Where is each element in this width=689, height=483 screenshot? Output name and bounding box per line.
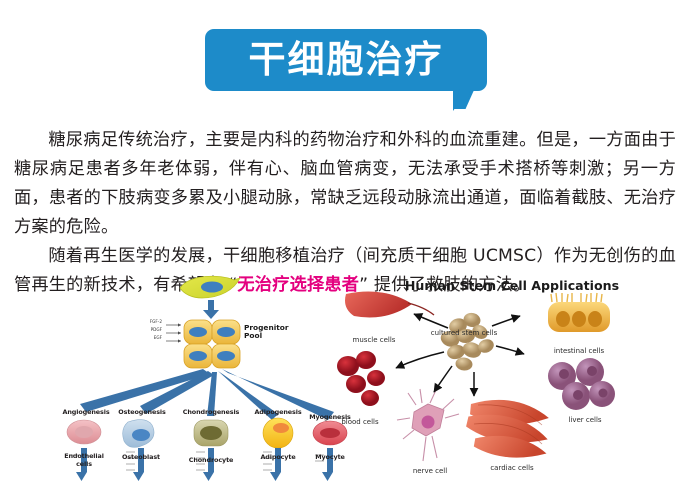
label-intestinal-cells: intestinal cells xyxy=(554,347,604,355)
figure-row: FGF-2 PDGF EGF Progenitor Pool Angiogene… xyxy=(0,272,689,483)
msc-differentiation-graphic xyxy=(62,272,352,483)
process-label-adipogenesis: Adipogenesis xyxy=(254,408,301,416)
banner-tail-icon xyxy=(455,89,475,109)
msc-differentiation-figure: FGF-2 PDGF EGF Progenitor Pool Angiogene… xyxy=(62,272,352,483)
lineage-cell-adipogenesis xyxy=(263,418,293,448)
figure-title: Human Stem Cell Applications xyxy=(352,278,672,293)
growth-factor-label-egf: EGF xyxy=(154,335,162,340)
growth-factor-label-pdgf: PDGF xyxy=(151,327,162,332)
paragraph-1: 糖尿病足传统治疗，主要是内科的药物治疗和外科的血流重建。但是，一方面由于糖尿病足… xyxy=(14,126,676,242)
cultured-stem-cells-cluster xyxy=(438,311,496,371)
lineage-cell-angiogenesis xyxy=(67,420,101,444)
intestinal-cells-illustration xyxy=(548,293,610,332)
cell-label-osteoblast: Osteoblast xyxy=(122,453,160,461)
cardiac-cells-illustration xyxy=(466,394,550,460)
arrow-to-pool xyxy=(203,300,219,319)
title-banner: 干细胞治疗 xyxy=(205,29,487,105)
cell-label-chondrocyte: Chondrocyte xyxy=(189,456,234,464)
progenitor-pool-cells xyxy=(184,320,240,368)
stem-cell-applications-graphic xyxy=(352,272,672,483)
label-cardiac-cells: cardiac cells xyxy=(490,464,533,472)
liver-cells-illustration xyxy=(548,358,615,410)
lineage-cell-chondrogenesis xyxy=(194,420,228,446)
label-muscle-cells: muscle cells xyxy=(353,336,396,344)
muscle-cells-illustration xyxy=(345,292,434,318)
label-nerve-cell: nerve cell xyxy=(413,467,447,475)
stem-cell-applications-figure: Human Stem Cell Applications xyxy=(352,272,672,483)
page-title: 干细胞治疗 xyxy=(249,41,444,80)
cell-label-endothelial: Endothelial cells xyxy=(62,453,106,468)
process-label-osteogenesis: Osteogenesis xyxy=(118,408,165,416)
growth-factor-label-fgf2: FGF-2 xyxy=(150,319,162,324)
label-liver-cells: liver cells xyxy=(568,416,601,424)
label-cultured-stem-cells: cultured stem cells xyxy=(431,329,498,337)
nerve-cell-illustration xyxy=(397,389,459,461)
lineage-cell-osteogenesis xyxy=(123,420,154,448)
growth-factor-arrows xyxy=(166,323,181,342)
label-blood-cells: blood cells xyxy=(341,418,378,426)
source-msc-cell xyxy=(180,276,240,298)
banner-body: 干细胞治疗 xyxy=(205,29,487,91)
process-label-angiogenesis: Angiogenesis xyxy=(62,408,109,416)
progenitor-pool-label-line2: Pool xyxy=(244,332,262,340)
cell-label-adipocyte: Adipocyte xyxy=(260,453,295,461)
cell-label-myocyte: Myocyte xyxy=(315,453,345,461)
process-label-chondrogenesis: Chondrogenesis xyxy=(183,408,240,416)
